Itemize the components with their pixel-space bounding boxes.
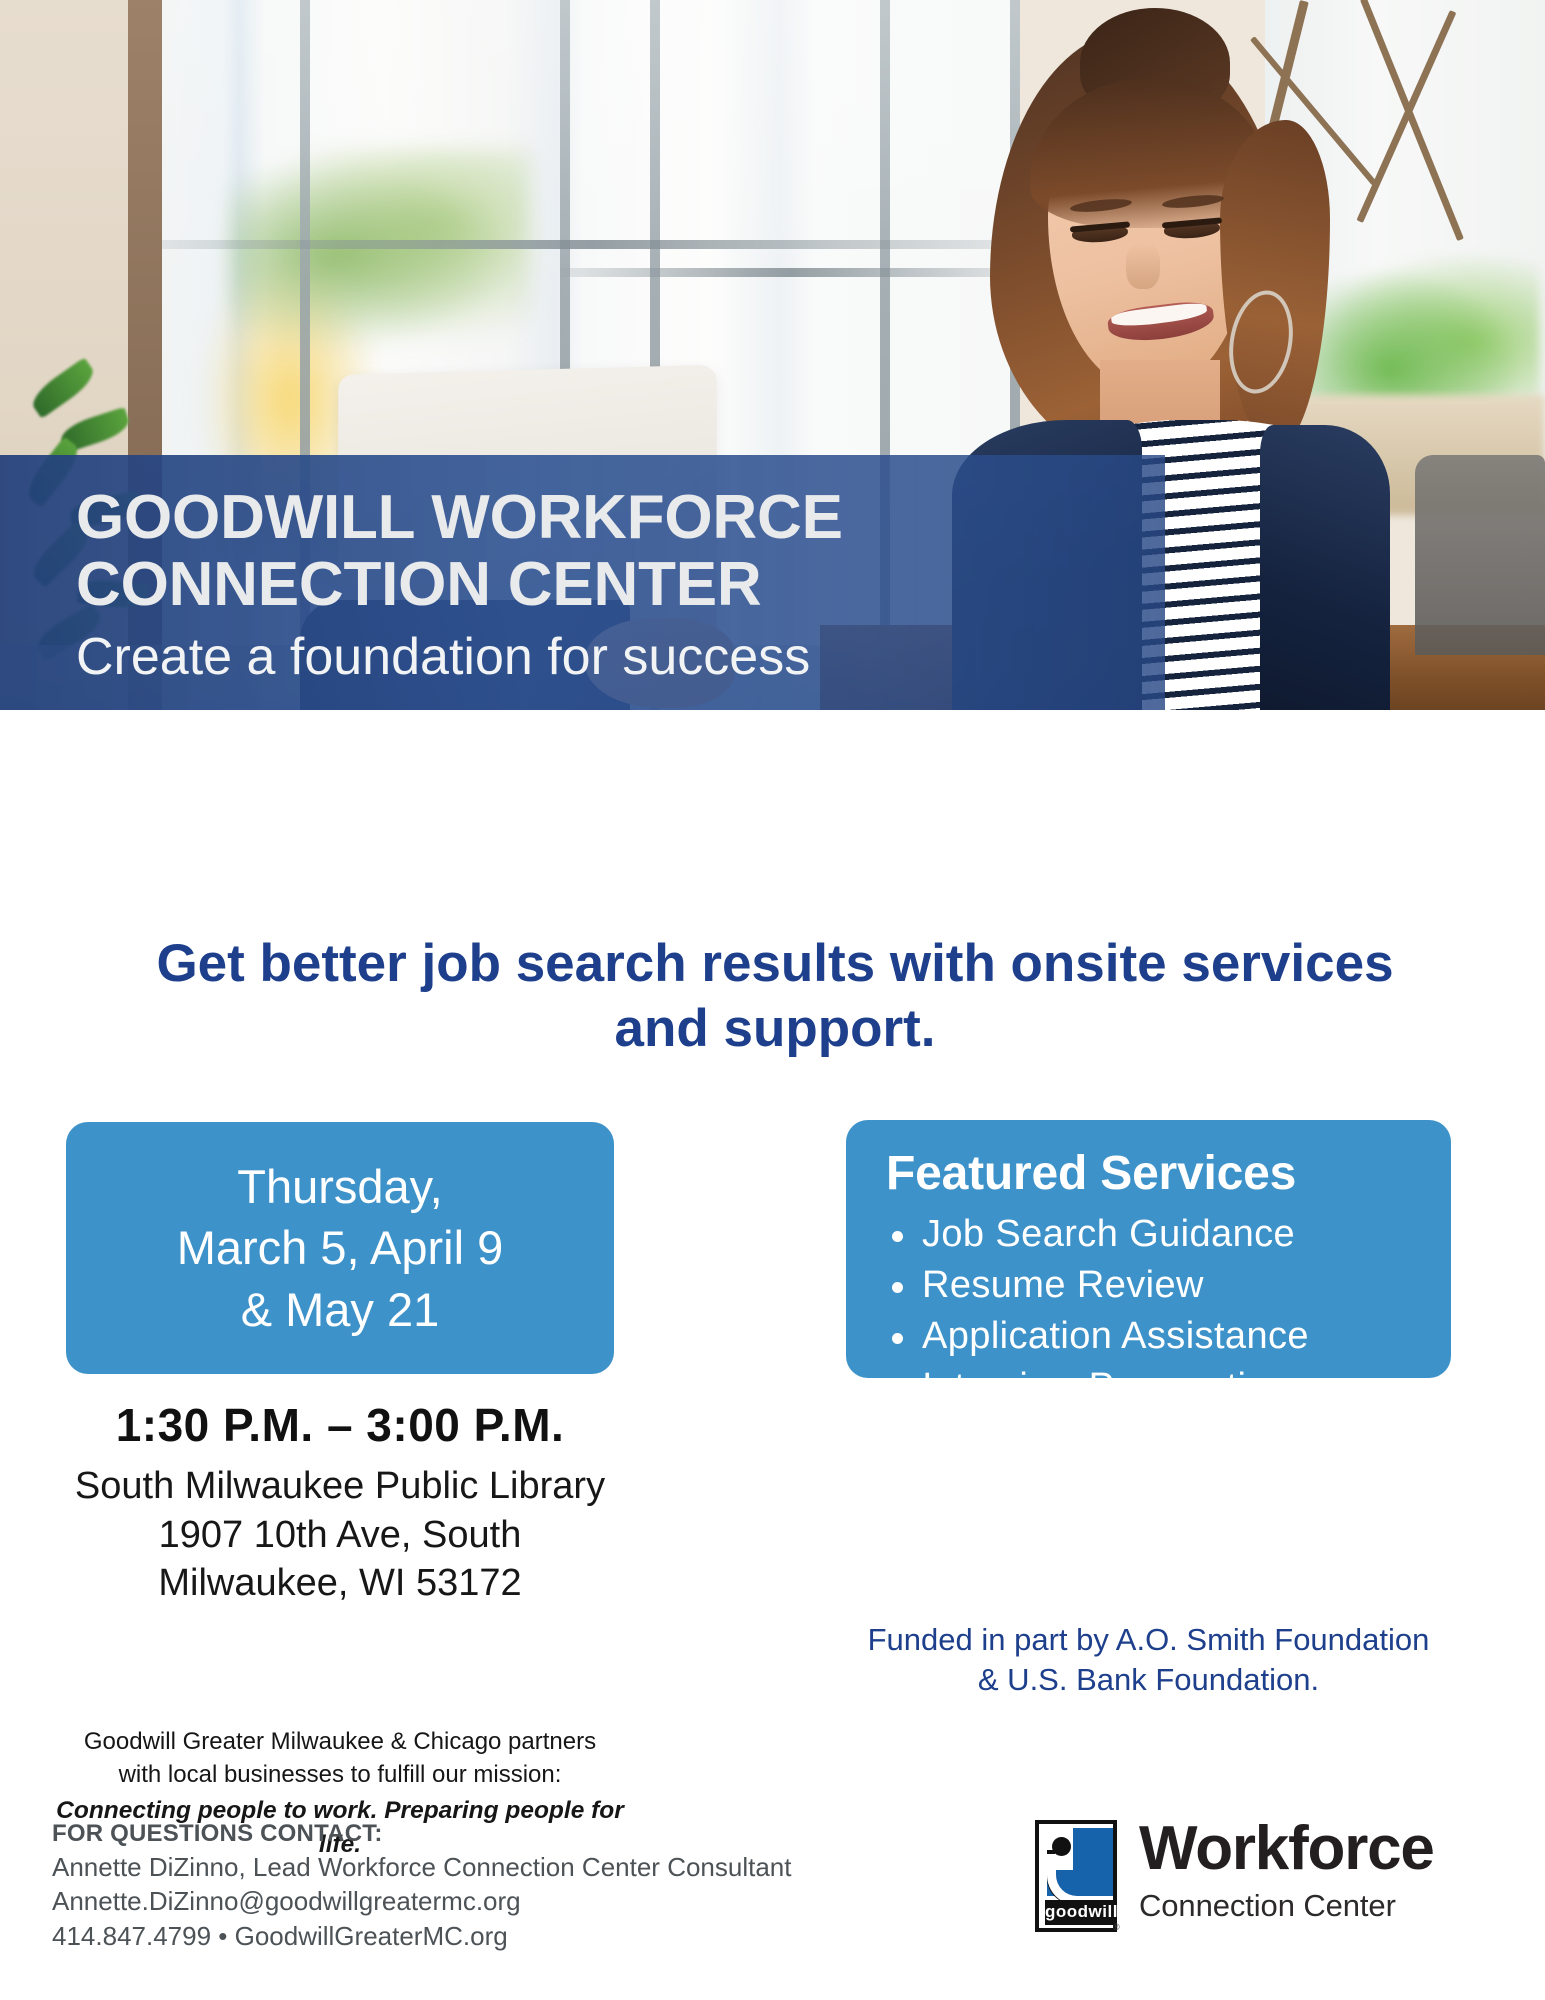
chair-back <box>1415 455 1545 655</box>
registered-trademark-icon: ® <box>1113 1922 1120 1932</box>
list-item: Job Search Guidance <box>916 1209 1423 1260</box>
flyer-page: GOODWILL WORKFORCE CONNECTION CENTER Cre… <box>0 0 1545 2000</box>
contact-phone-website[interactable]: 414.847.4799 • GoodwillGreaterMC.org <box>52 1919 872 1953</box>
list-item: Interview Preparation <box>916 1362 1423 1413</box>
logo-subtitle: Connection Center <box>1139 1890 1434 1921</box>
event-dates-text: Thursday, March 5, April 9 & May 21 <box>177 1156 504 1339</box>
banner-title-line1: GOODWILL WORKFORCE <box>76 485 1165 552</box>
list-item: Resume Review <box>916 1260 1423 1311</box>
page-headline: Get better job search results with onsit… <box>105 932 1445 1061</box>
mission-text: Goodwill Greater Milwaukee & Chicago par… <box>84 1728 596 1788</box>
event-venue-address: South Milwaukee Public Library 1907 10th… <box>56 1462 624 1608</box>
logo-text-block: Workforce Connection Center <box>1139 1818 1434 1921</box>
banner-title-line2: CONNECTION CENTER <box>76 552 1165 619</box>
window-transom <box>162 240 1020 249</box>
event-dates-card: Thursday, March 5, April 9 & May 21 <box>66 1122 614 1374</box>
banner-subtitle: Create a foundation for success <box>76 629 1165 686</box>
banner-title: GOODWILL WORKFORCE CONNECTION CENTER <box>76 485 1165 619</box>
nose <box>1126 243 1160 289</box>
goodwill-logo-wordmark: goodwill <box>1045 1900 1113 1925</box>
contact-name-title: Annette DiZinno, Lead Workforce Connecti… <box>52 1850 872 1884</box>
contact-heading: FOR QUESTIONS CONTACT: <box>52 1820 872 1848</box>
title-banner: GOODWILL WORKFORCE CONNECTION CENTER Cre… <box>0 455 1165 710</box>
workforce-connection-center-logo: goodwill ® Workforce Connection Center <box>1035 1818 1445 1938</box>
goodwill-logo-icon: goodwill <box>1035 1820 1117 1932</box>
contact-email[interactable]: Annette.DiZinno@goodwillgreatermc.org <box>52 1884 872 1918</box>
goodwill-logo-smile <box>1047 1854 1094 1905</box>
logo-title: Workforce <box>1139 1818 1434 1880</box>
outdoor-foliage-blur <box>230 150 530 360</box>
featured-services-title: Featured Services <box>886 1146 1423 1201</box>
funding-credit: Funded in part by A.O. Smith Foundation … <box>826 1620 1471 1701</box>
blazer-right <box>1260 425 1390 710</box>
plant-leaf <box>27 357 99 418</box>
list-item: Application Assistance <box>916 1311 1423 1362</box>
contact-block: FOR QUESTIONS CONTACT: Annette DiZinno, … <box>52 1820 872 1953</box>
featured-services-card: Featured Services Job Search Guidance Re… <box>846 1120 1451 1378</box>
event-time: 1:30 P.M. – 3:00 P.M. <box>66 1398 614 1452</box>
featured-services-list: Job Search Guidance Resume Review Applic… <box>882 1209 1423 1413</box>
